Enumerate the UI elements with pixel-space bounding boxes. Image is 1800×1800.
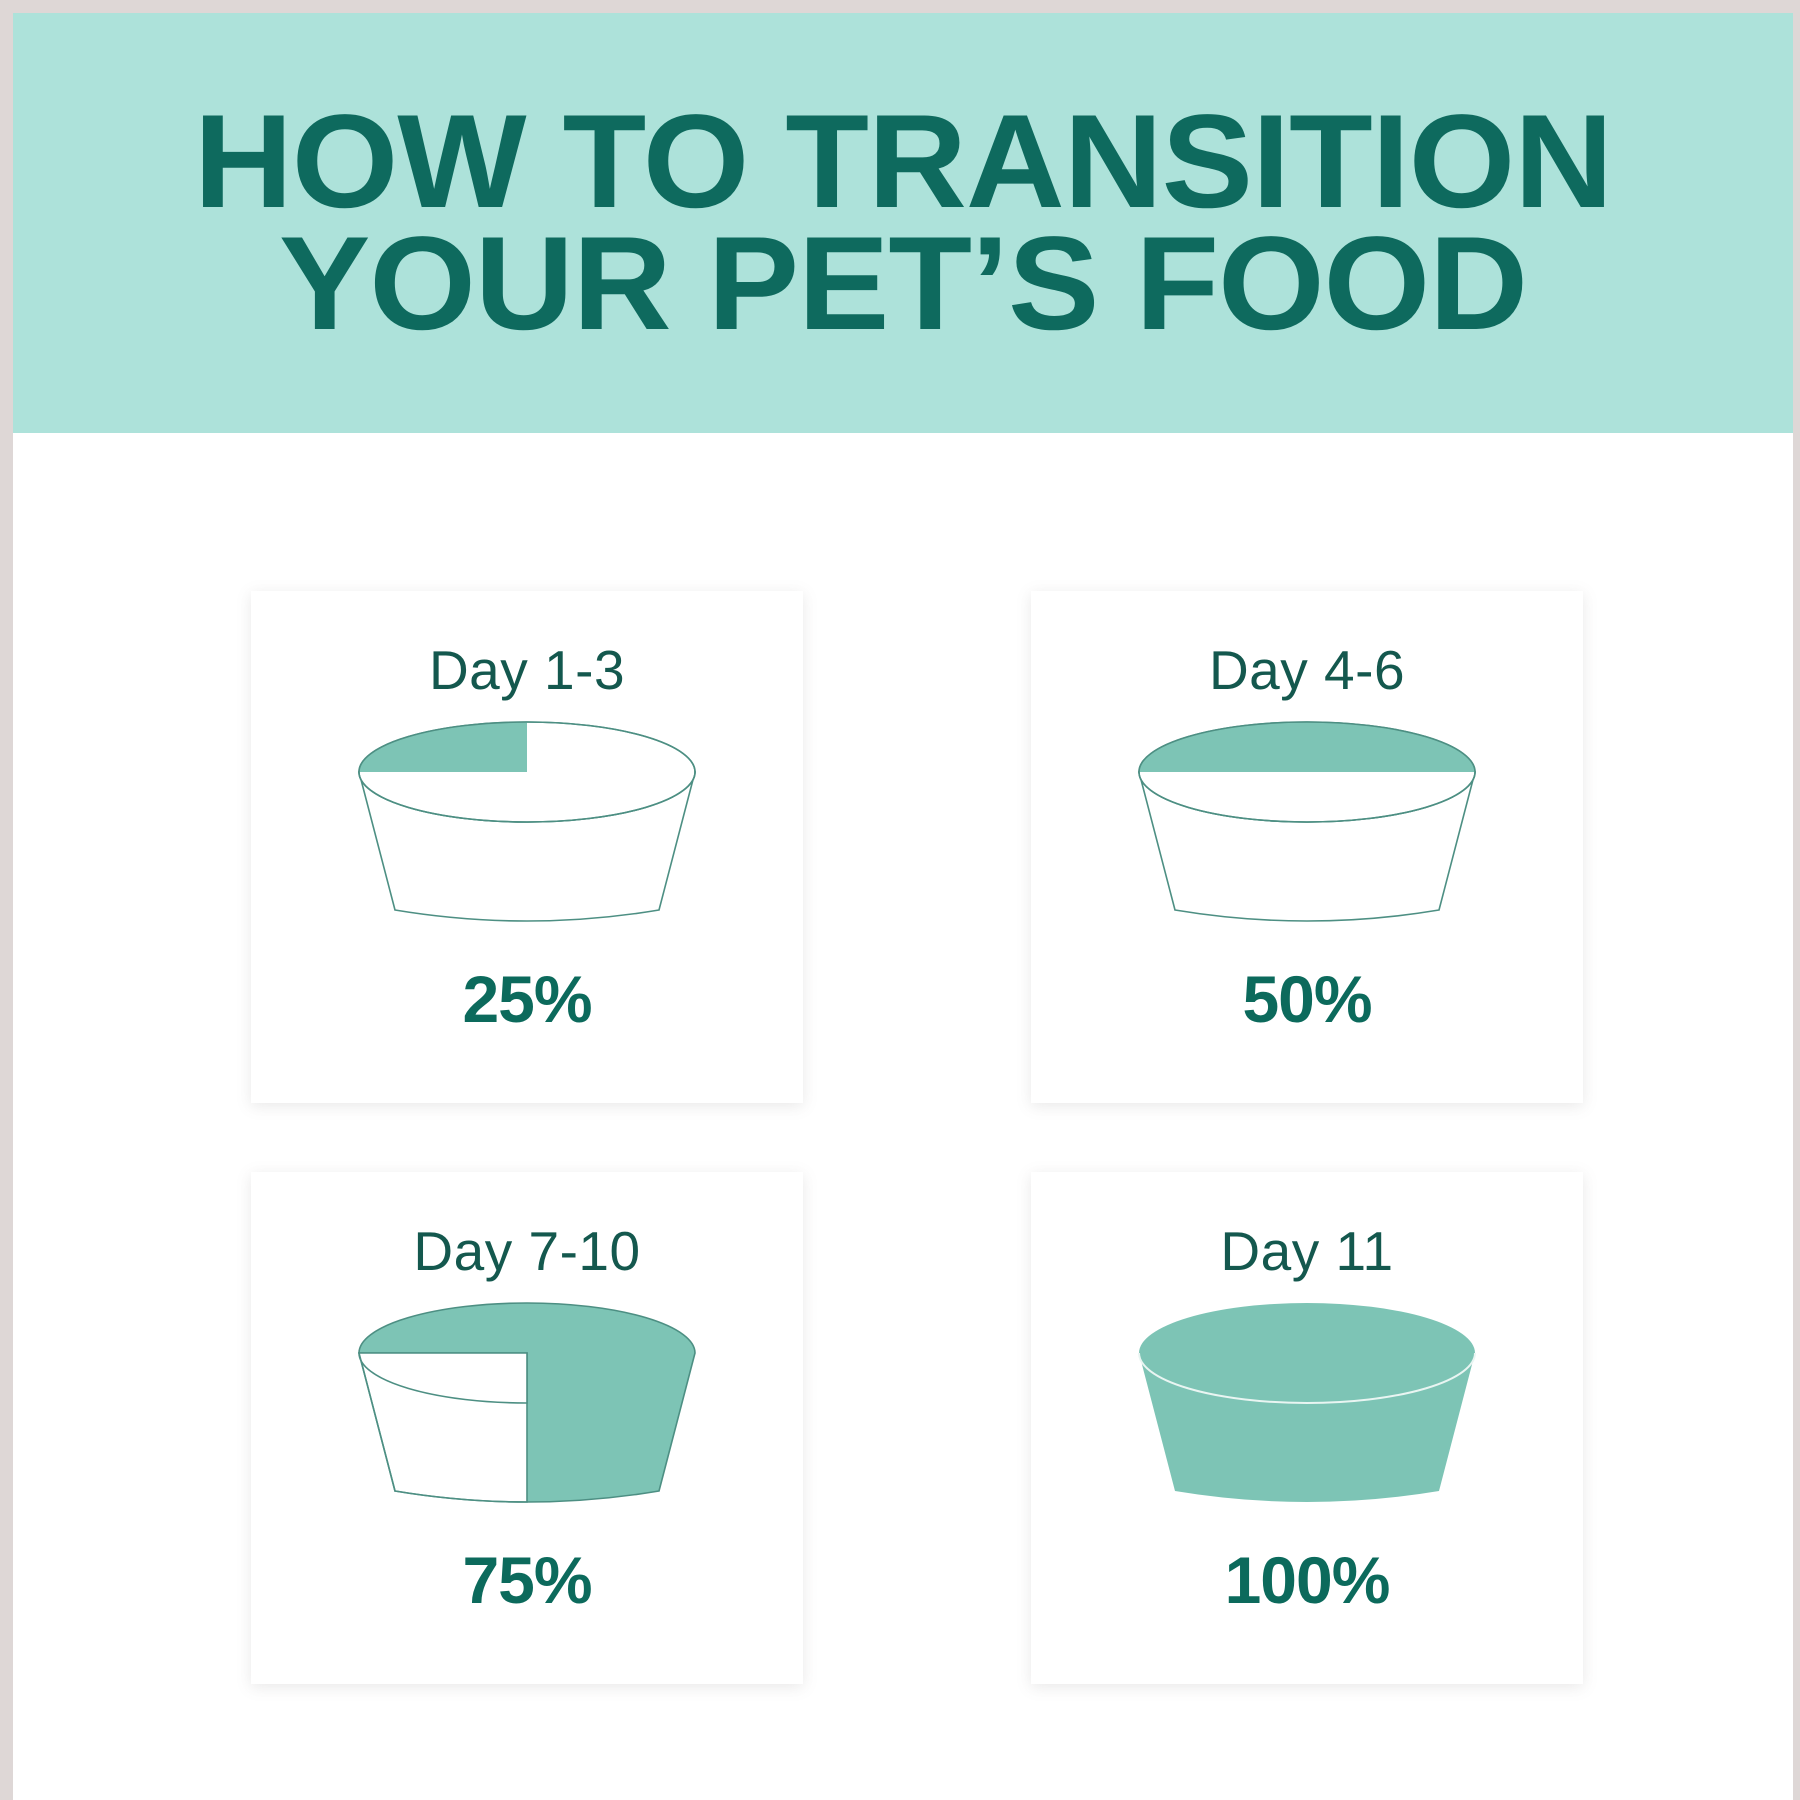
page-title-line-2: YOUR PET’S FOOD [79,223,1727,345]
day-label: Day 7-10 [413,1224,640,1279]
bowl-icon-50 [1107,714,1507,944]
step-card-day-4-6: Day 4-6 50% [1031,591,1583,1103]
percent-label: 100% [1225,1547,1390,1613]
step-card-day-11: Day 11 100% [1031,1172,1583,1684]
page-title: HOW TO TRANSITION YOUR PET’S FOOD [79,101,1727,346]
percent-label: 25% [462,966,591,1032]
step-card-day-7-10: Day 7-10 [251,1172,803,1684]
bowl-icon-25 [327,714,727,944]
percent-label: 50% [1242,966,1371,1032]
percent-label: 75% [462,1547,591,1613]
page-frame: HOW TO TRANSITION YOUR PET’S FOOD Day 1-… [0,0,1800,1800]
header-banner: HOW TO TRANSITION YOUR PET’S FOOD [13,13,1793,433]
infographic-canvas: HOW TO TRANSITION YOUR PET’S FOOD Day 1-… [13,13,1793,1800]
day-label: Day 11 [1220,1224,1393,1279]
day-label: Day 4-6 [1209,643,1405,698]
bowl-icon-100 [1107,1295,1507,1525]
transition-steps-grid: Day 1-3 [13,433,1793,1800]
bowl-icon-75 [327,1295,727,1525]
step-card-day-1-3: Day 1-3 [251,591,803,1103]
page-title-line-1: HOW TO TRANSITION [79,101,1727,223]
day-label: Day 1-3 [429,643,625,698]
